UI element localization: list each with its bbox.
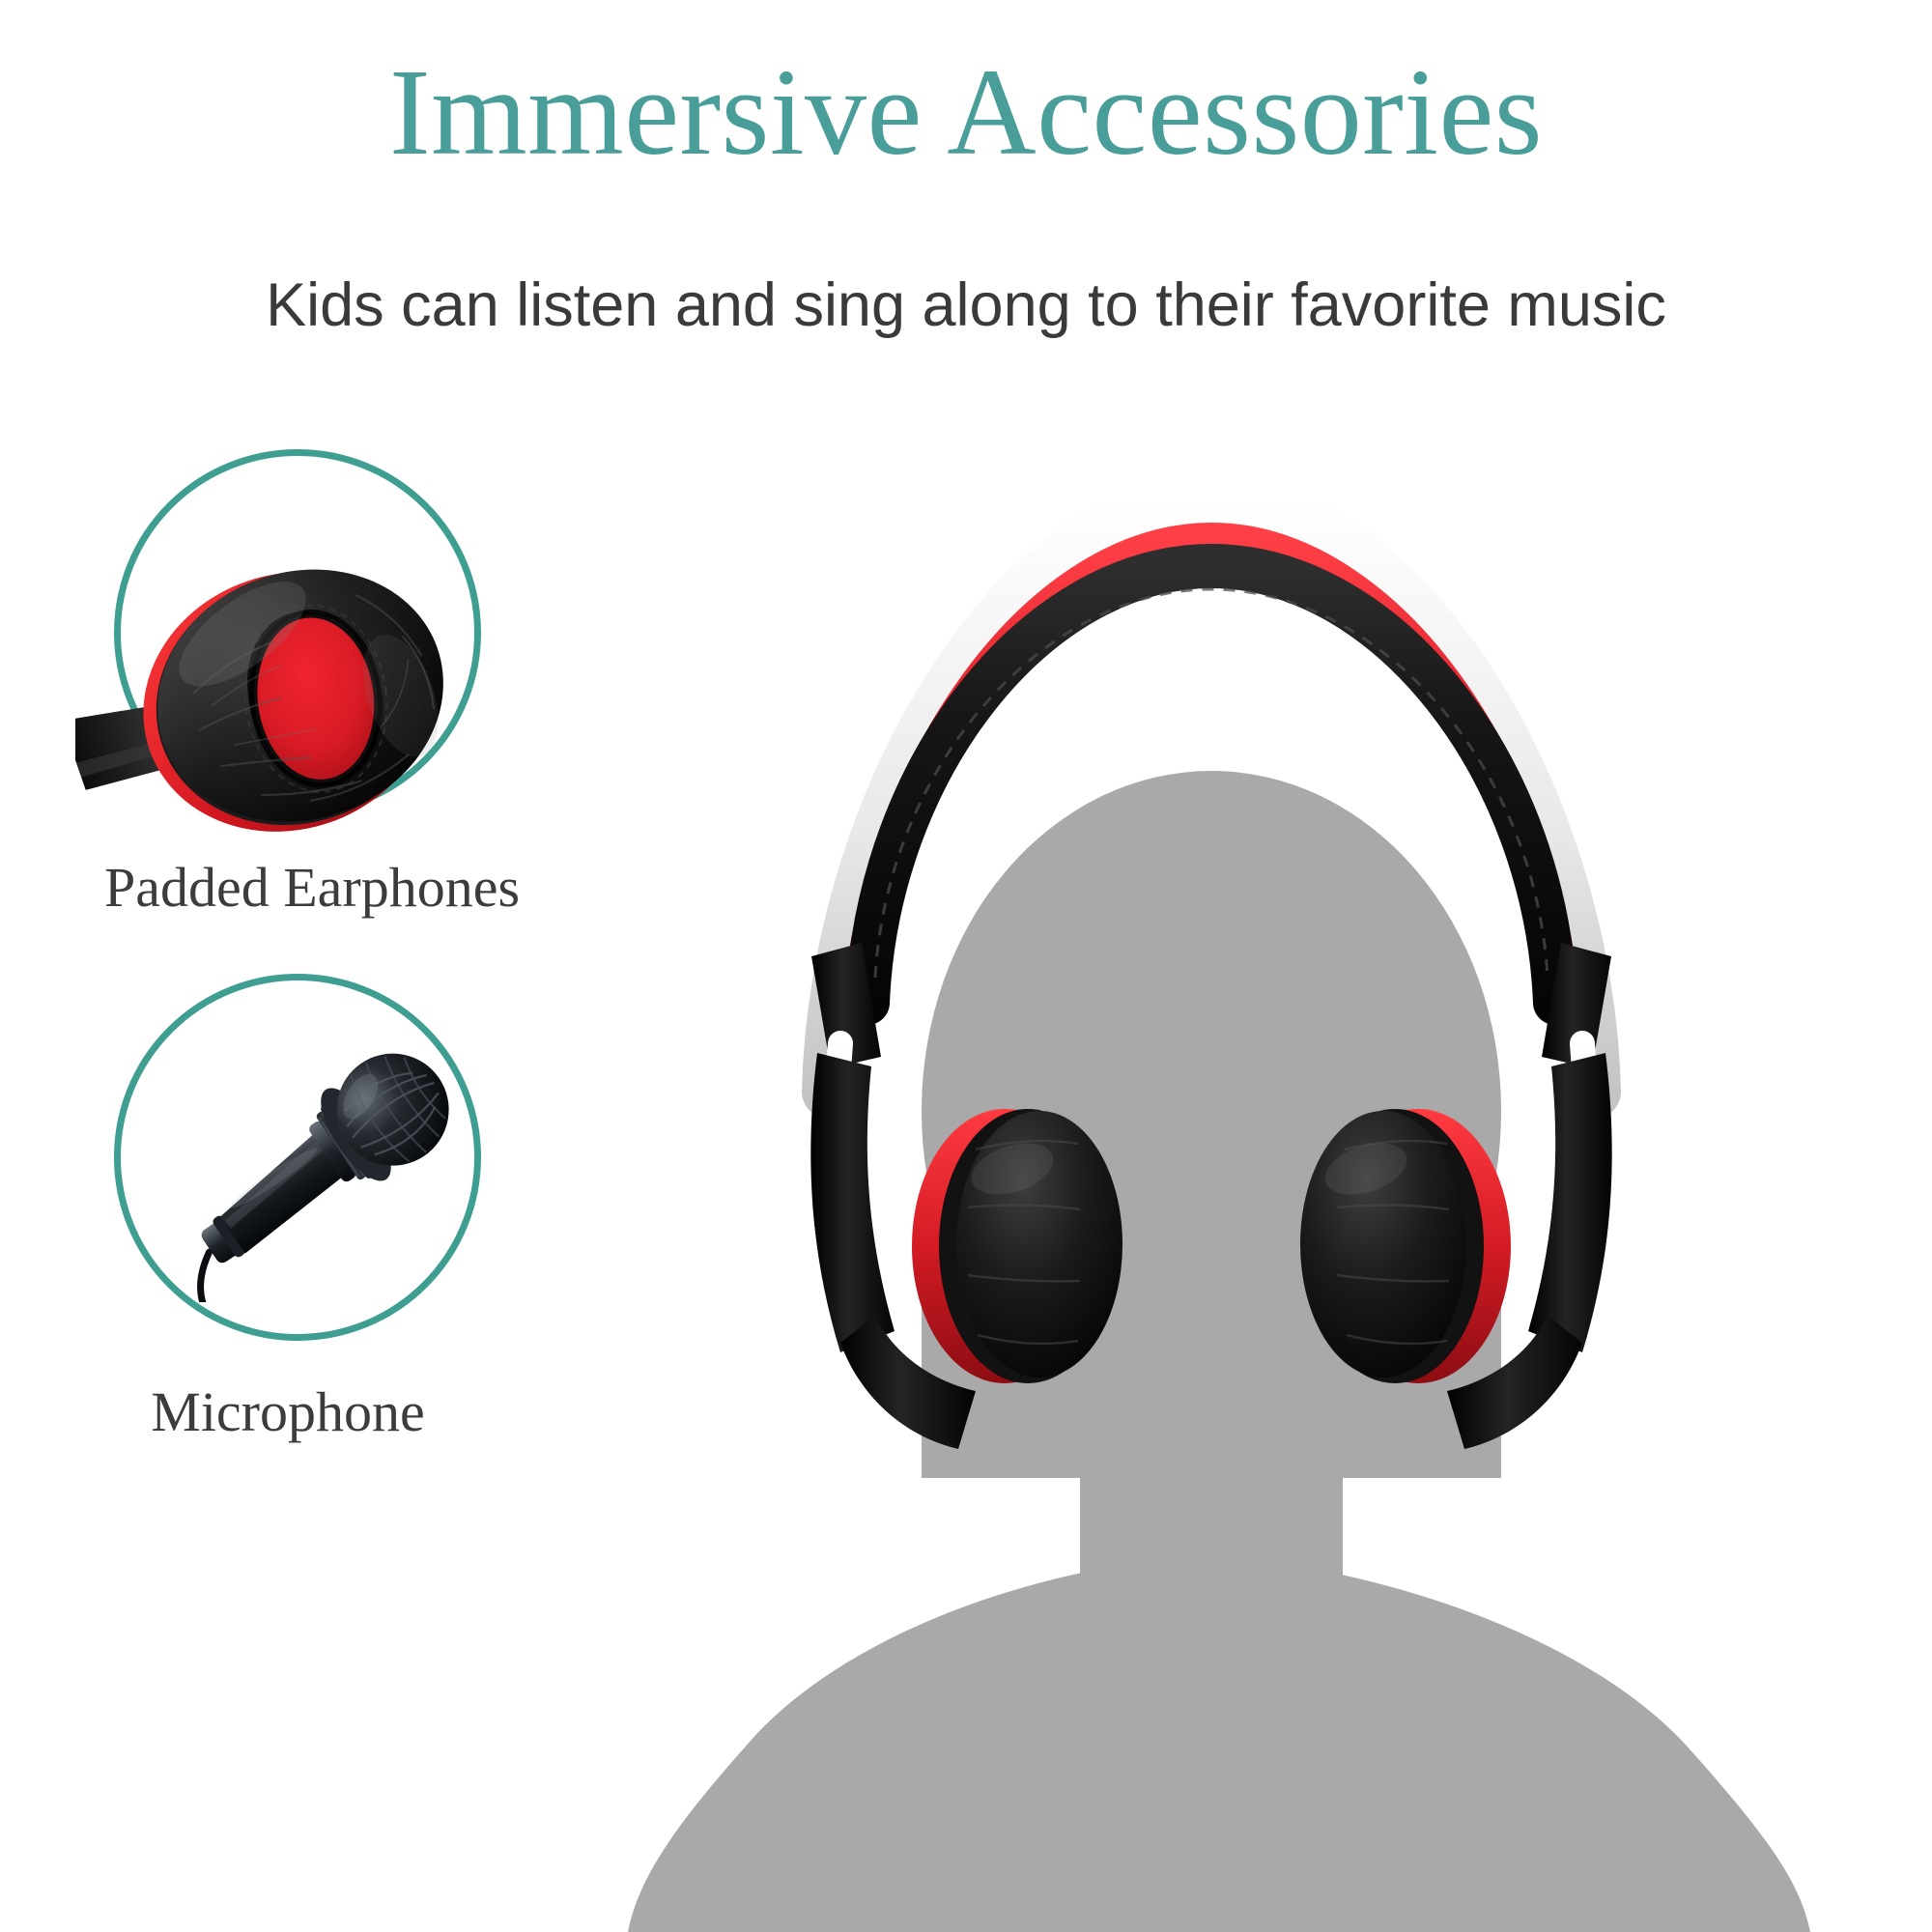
hero-headphones-on-silhouette [522, 377, 1893, 1932]
callout-label-padded-earphones: Padded Earphones [104, 855, 471, 920]
callout-label-microphone: Microphone [104, 1379, 471, 1444]
callout-padded-earphones: Padded Earphones [114, 449, 481, 990]
microphone-icon [131, 1012, 471, 1302]
page-subtitle: Kids can listen and sing along to their … [0, 275, 1932, 336]
callout-microphone: Microphone [114, 974, 481, 1515]
silhouette-shape [628, 771, 1810, 1932]
page-title: Immersive Accessories [0, 50, 1932, 174]
marketing-infographic: Immersive Accessories Kids can listen an… [0, 0, 1932, 1932]
padded-earphone-icon [75, 502, 491, 869]
